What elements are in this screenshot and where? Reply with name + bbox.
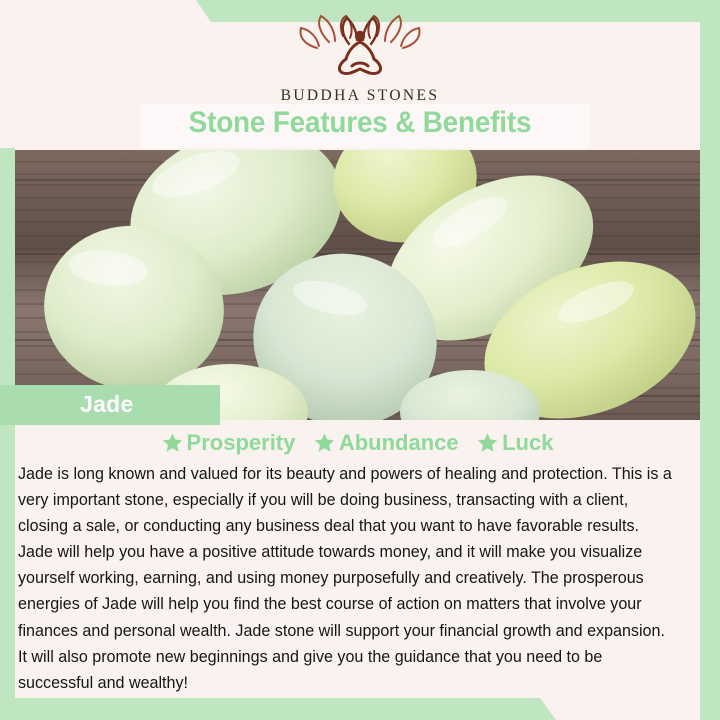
brand-name: BUDDHA STONES <box>0 87 720 105</box>
frame-border-bottom <box>0 698 720 720</box>
benefit-label: Abundance <box>339 430 459 455</box>
benefit-item: Prosperity <box>162 430 296 456</box>
star-icon <box>477 432 498 453</box>
photo-caption-label: Jade <box>80 391 134 418</box>
lotus-meditation-icon <box>297 14 423 84</box>
benefit-label: Prosperity <box>187 430 296 455</box>
stone-photo <box>0 150 700 420</box>
star-icon <box>314 432 335 453</box>
benefits-row: Prosperity Abundance Luck <box>15 430 700 456</box>
stone-description: Jade is long known and valued for its be… <box>18 461 678 696</box>
brand-logo: BUDDHA STONES <box>0 14 720 105</box>
page-title: Stone Features & Benefits <box>25 106 695 140</box>
star-icon <box>162 432 183 453</box>
benefit-label: Luck <box>502 430 553 455</box>
benefit-item: Luck <box>477 430 553 456</box>
jade-stones-image <box>0 150 700 420</box>
benefit-item: Abundance <box>314 430 459 456</box>
stone-info-card: BUDDHA STONES Stone Features & Benefits <box>0 0 720 720</box>
frame-border-left <box>0 148 15 720</box>
frame-border-right <box>700 0 720 720</box>
